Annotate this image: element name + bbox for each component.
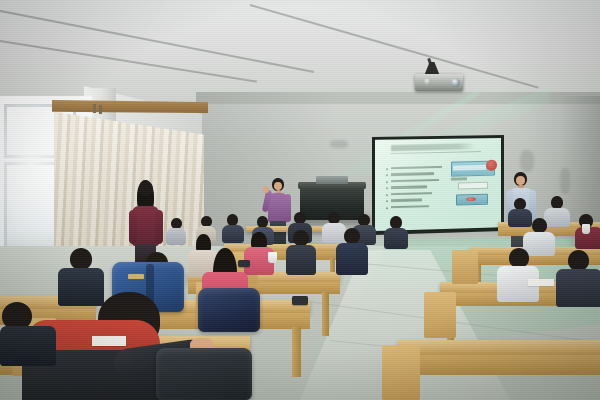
drinking-cup-front [268, 252, 277, 263]
mobile-phone-desk-2 [238, 260, 250, 267]
student-center-back-8 [166, 218, 186, 244]
head [532, 218, 547, 233]
backpack-dark-foreground [156, 348, 252, 400]
ceiling-conduit-3 [0, 40, 257, 83]
paper-sheet-left [92, 336, 126, 346]
curtain-valance [52, 100, 208, 113]
head [509, 248, 529, 268]
torso [286, 245, 316, 275]
student-center-back-2 [222, 214, 244, 242]
torso [556, 269, 600, 307]
desk-right-row4-front [398, 355, 600, 375]
torso [0, 326, 56, 366]
mobile-phone-desk [292, 296, 308, 305]
torso [384, 228, 408, 249]
curtain-hook-icon [99, 105, 102, 114]
head [70, 248, 92, 270]
backpack-blue-logo [128, 274, 144, 279]
student-right-front-2 [556, 250, 600, 304]
chair-right-2 [424, 292, 456, 338]
torso [336, 243, 368, 275]
arm-right [155, 210, 163, 244]
student-right-front-1 [497, 248, 539, 298]
torso [166, 228, 186, 245]
head [139, 181, 153, 196]
face [274, 182, 282, 190]
ceiling-conduit-2 [250, 4, 539, 89]
classroom-photograph: Classroom lecture with projector present… [0, 0, 600, 400]
hand [263, 186, 269, 193]
av-control-deck [316, 176, 348, 184]
chair-right-1 [452, 250, 478, 284]
projector-focus-knob [424, 78, 431, 85]
head [293, 230, 309, 246]
face [516, 176, 525, 185]
drinking-cup [582, 224, 590, 234]
student-mid-navy [336, 228, 368, 272]
paper-sheet [528, 279, 554, 286]
desk-leg [292, 327, 301, 377]
head [344, 228, 360, 244]
desk-leg [322, 292, 329, 336]
arm-left [129, 210, 137, 244]
student-center-back-7 [384, 216, 408, 248]
wall-scuff-1 [520, 150, 534, 172]
student-foreground-left [0, 302, 56, 362]
chair-right-3 [382, 345, 420, 400]
head [568, 250, 589, 271]
wall-scuff-3 [330, 140, 348, 148]
desk-right-row4 [398, 340, 600, 356]
torso [222, 225, 244, 243]
ceiling-conduit-1 [0, 8, 314, 73]
curtain-hook-icon [93, 104, 96, 113]
projector-lens-icon [451, 78, 460, 87]
student-mid-dark [286, 230, 316, 272]
